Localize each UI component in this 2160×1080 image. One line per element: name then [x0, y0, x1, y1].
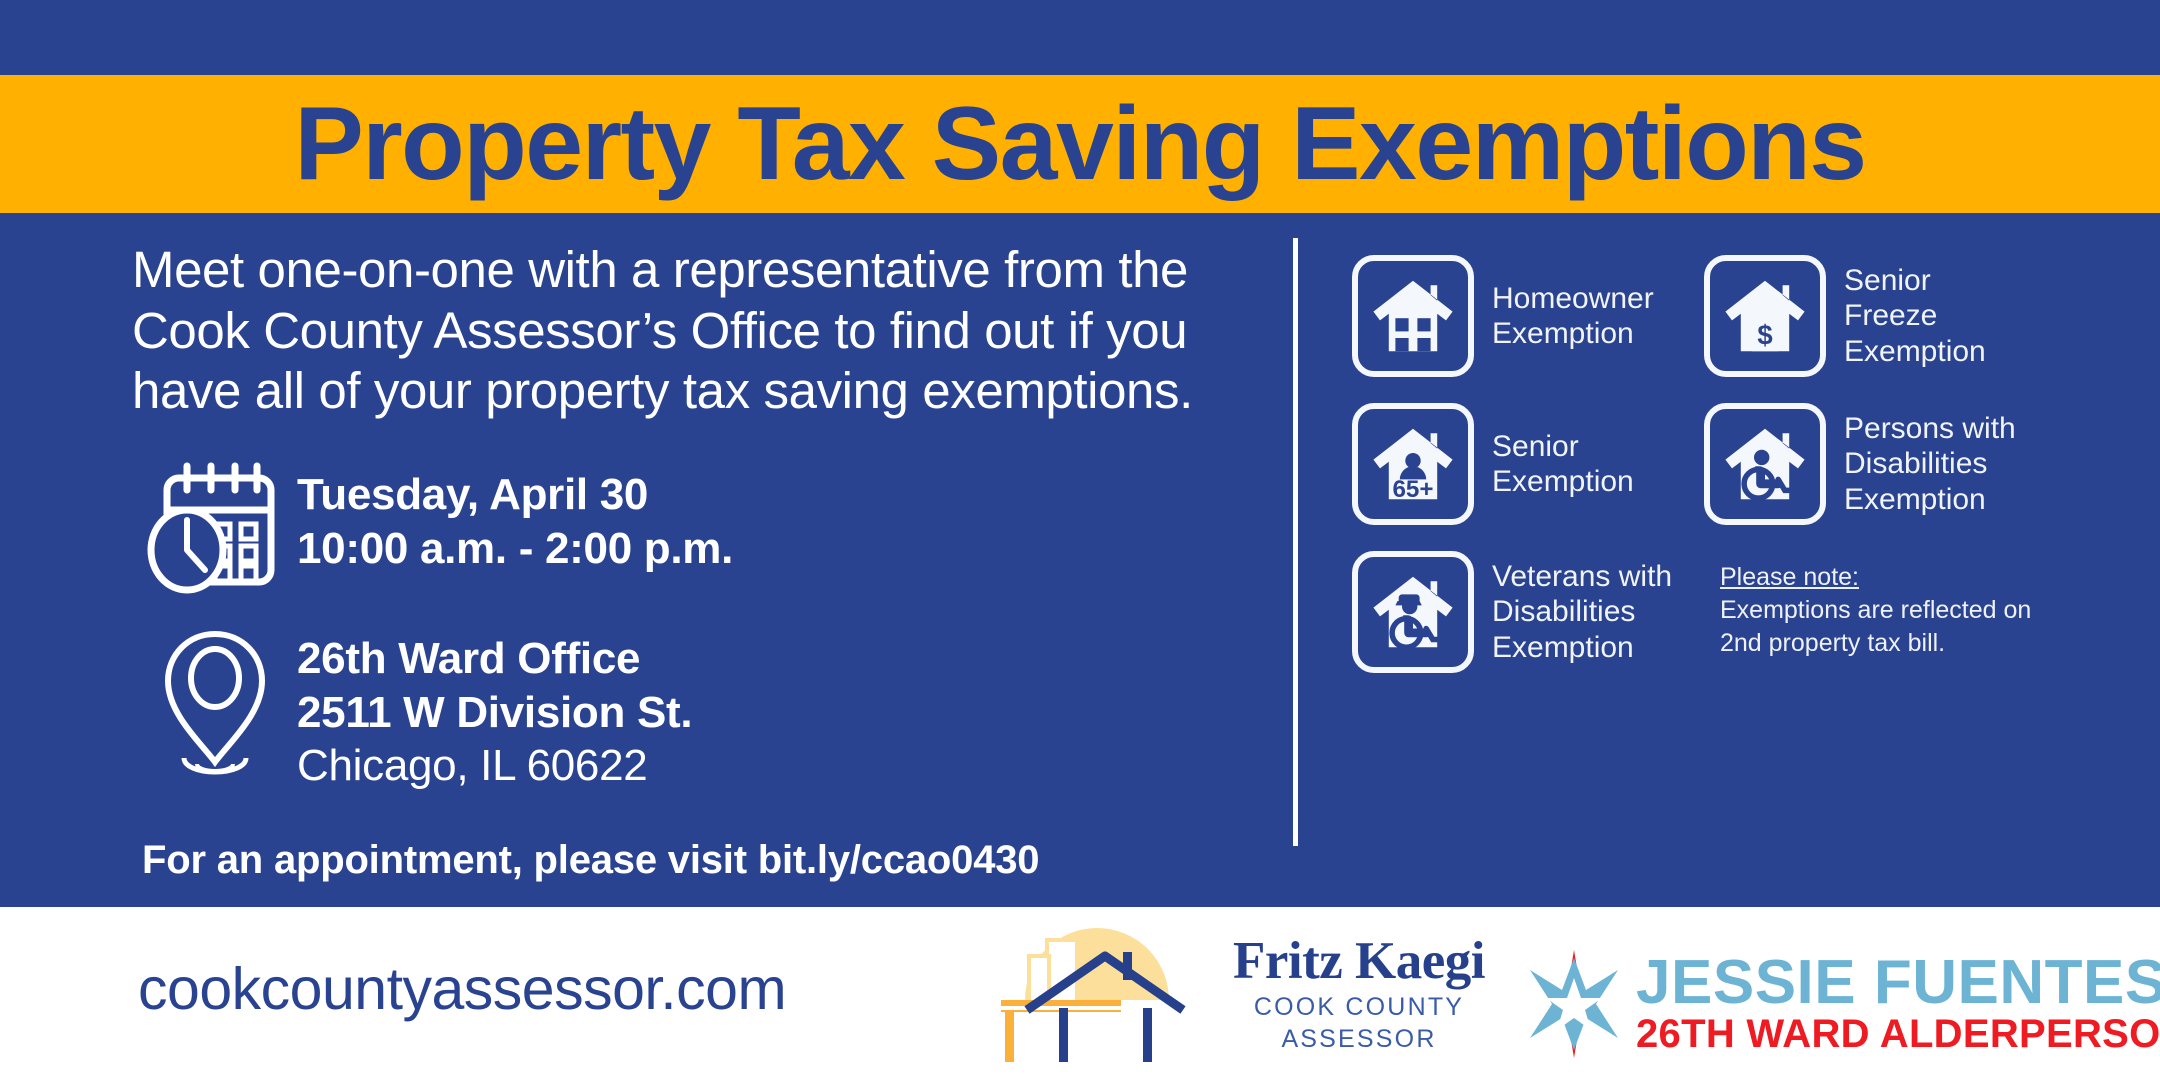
- kaegi-subtitle-2: ASSESSOR: [1233, 1024, 1485, 1055]
- label-line-2: Disabilities: [1492, 595, 1635, 628]
- exemption-label: Veterans with Disabilities Exemption: [1492, 559, 1672, 664]
- kaegi-name: Fritz Kaegi: [1233, 935, 1485, 988]
- title-band: Property Tax Saving Exemptions: [0, 75, 2160, 213]
- house-wheelchair-icon: [1704, 403, 1826, 525]
- location-row: 26th Ward Office 2511 W Division St. Chi…: [132, 626, 1272, 793]
- note-line-2: 2nd property tax bill.: [1720, 629, 1945, 657]
- event-time: 10:00 a.m. - 2:00 p.m.: [297, 522, 733, 576]
- city-state-zip: Chicago, IL 60622: [297, 739, 692, 793]
- svg-text:$: $: [1757, 320, 1772, 351]
- exemption-item-senior-freeze: $ Senior Freeze Exemption: [1704, 255, 2142, 377]
- fritz-kaegi-logo: Fritz Kaegi COOK COUNTY ASSESSOR: [985, 922, 1485, 1062]
- exemption-item-veterans-with-disabilities: Veterans with Disabilities Exemption: [1352, 551, 1704, 673]
- flyer-canvas: Property Tax Saving Exemptions Meet one-…: [0, 0, 2160, 1080]
- exemption-label: Senior Freeze Exemption: [1844, 263, 1986, 368]
- label-line-1: Homeowner: [1492, 282, 1654, 315]
- label-line-2: Freeze: [1844, 299, 1937, 332]
- exemption-grid: Homeowner Exemption $ Senior Freeze: [1352, 255, 2142, 673]
- appointment-link[interactable]: For an appointment, please visit bit.ly/…: [142, 838, 1039, 883]
- svg-text:65+: 65+: [1392, 476, 1433, 503]
- note-heading: Please note:: [1720, 561, 2031, 594]
- exemption-item-persons-with-disabilities: Persons with Disabilities Exemption: [1704, 403, 2142, 525]
- chicago-star-icon: [1518, 948, 1630, 1060]
- kaegi-subtitle-1: COOK COUNTY: [1233, 992, 1485, 1023]
- house-senior-65plus-icon: 65+: [1352, 403, 1474, 525]
- label-line-3: Exemption: [1844, 335, 1986, 368]
- event-day: Tuesday, April 30: [297, 468, 733, 522]
- calendar-clock-icon: [132, 462, 297, 594]
- label-line-1: Veterans with: [1492, 560, 1672, 593]
- date-time-text: Tuesday, April 30 10:00 a.m. - 2:00 p.m.: [297, 462, 733, 575]
- location-text: 26th Ward Office 2511 W Division St. Chi…: [297, 626, 692, 793]
- website-url[interactable]: cookcountyassessor.com: [138, 955, 786, 1023]
- street-address: 2511 W Division St.: [297, 686, 692, 740]
- note-text: Please note: Exemptions are reflected on…: [1720, 551, 2031, 660]
- label-line-2: Exemption: [1492, 465, 1634, 498]
- exemption-row: Homeowner Exemption $ Senior Freeze: [1352, 255, 2142, 377]
- venue-name: 26th Ward Office: [297, 632, 692, 686]
- label-line-2: Exemption: [1492, 317, 1634, 350]
- exemption-label: Homeowner Exemption: [1492, 281, 1654, 351]
- please-note-block: Please note: Exemptions are reflected on…: [1704, 551, 2142, 673]
- date-time-row: Tuesday, April 30 10:00 a.m. - 2:00 p.m.: [132, 462, 1272, 594]
- label-line-3: Exemption: [1844, 483, 1986, 516]
- label-line-1: Persons with: [1844, 412, 2016, 445]
- house-lock-dollar-icon: $: [1704, 255, 1826, 377]
- label-line-1: Senior: [1492, 430, 1579, 463]
- exemption-label: Persons with Disabilities Exemption: [1844, 411, 2016, 516]
- jessie-fuentes-logo: JESSIE FUENTES 26TH WARD ALDERPERSON: [1518, 948, 2160, 1060]
- intro-paragraph: Meet one-on-one with a representative fr…: [132, 240, 1272, 422]
- page-title: Property Tax Saving Exemptions: [294, 92, 1865, 196]
- vertical-divider: [1293, 238, 1298, 846]
- map-pin-icon: [132, 626, 297, 776]
- exemption-item-senior: 65+ Senior Exemption: [1352, 403, 1704, 525]
- house-veteran-wheelchair-icon: [1352, 551, 1474, 673]
- label-line-3: Exemption: [1492, 631, 1634, 664]
- label-line-1: Senior: [1844, 264, 1931, 297]
- exemption-row: Veterans with Disabilities Exemption Ple…: [1352, 551, 2142, 673]
- fuentes-wordmark: JESSIE FUENTES 26TH WARD ALDERPERSON: [1636, 953, 2160, 1055]
- exemption-label: Senior Exemption: [1492, 429, 1634, 499]
- fuentes-name: JESSIE FUENTES: [1636, 953, 2160, 1013]
- kaegi-wordmark: Fritz Kaegi COOK COUNTY ASSESSOR: [1233, 929, 1485, 1055]
- house-skyline-icon: [985, 922, 1225, 1062]
- note-line-1: Exemptions are reflected on: [1720, 596, 2031, 624]
- fuentes-subtitle: 26TH WARD ALDERPERSON: [1636, 1013, 2160, 1055]
- house-icon: [1352, 255, 1474, 377]
- exemption-row: 65+ Senior Exemption: [1352, 403, 2142, 525]
- exemption-item-homeowner: Homeowner Exemption: [1352, 255, 1704, 377]
- left-column: Meet one-on-one with a representative fr…: [132, 240, 1272, 793]
- label-line-2: Disabilities: [1844, 447, 1987, 480]
